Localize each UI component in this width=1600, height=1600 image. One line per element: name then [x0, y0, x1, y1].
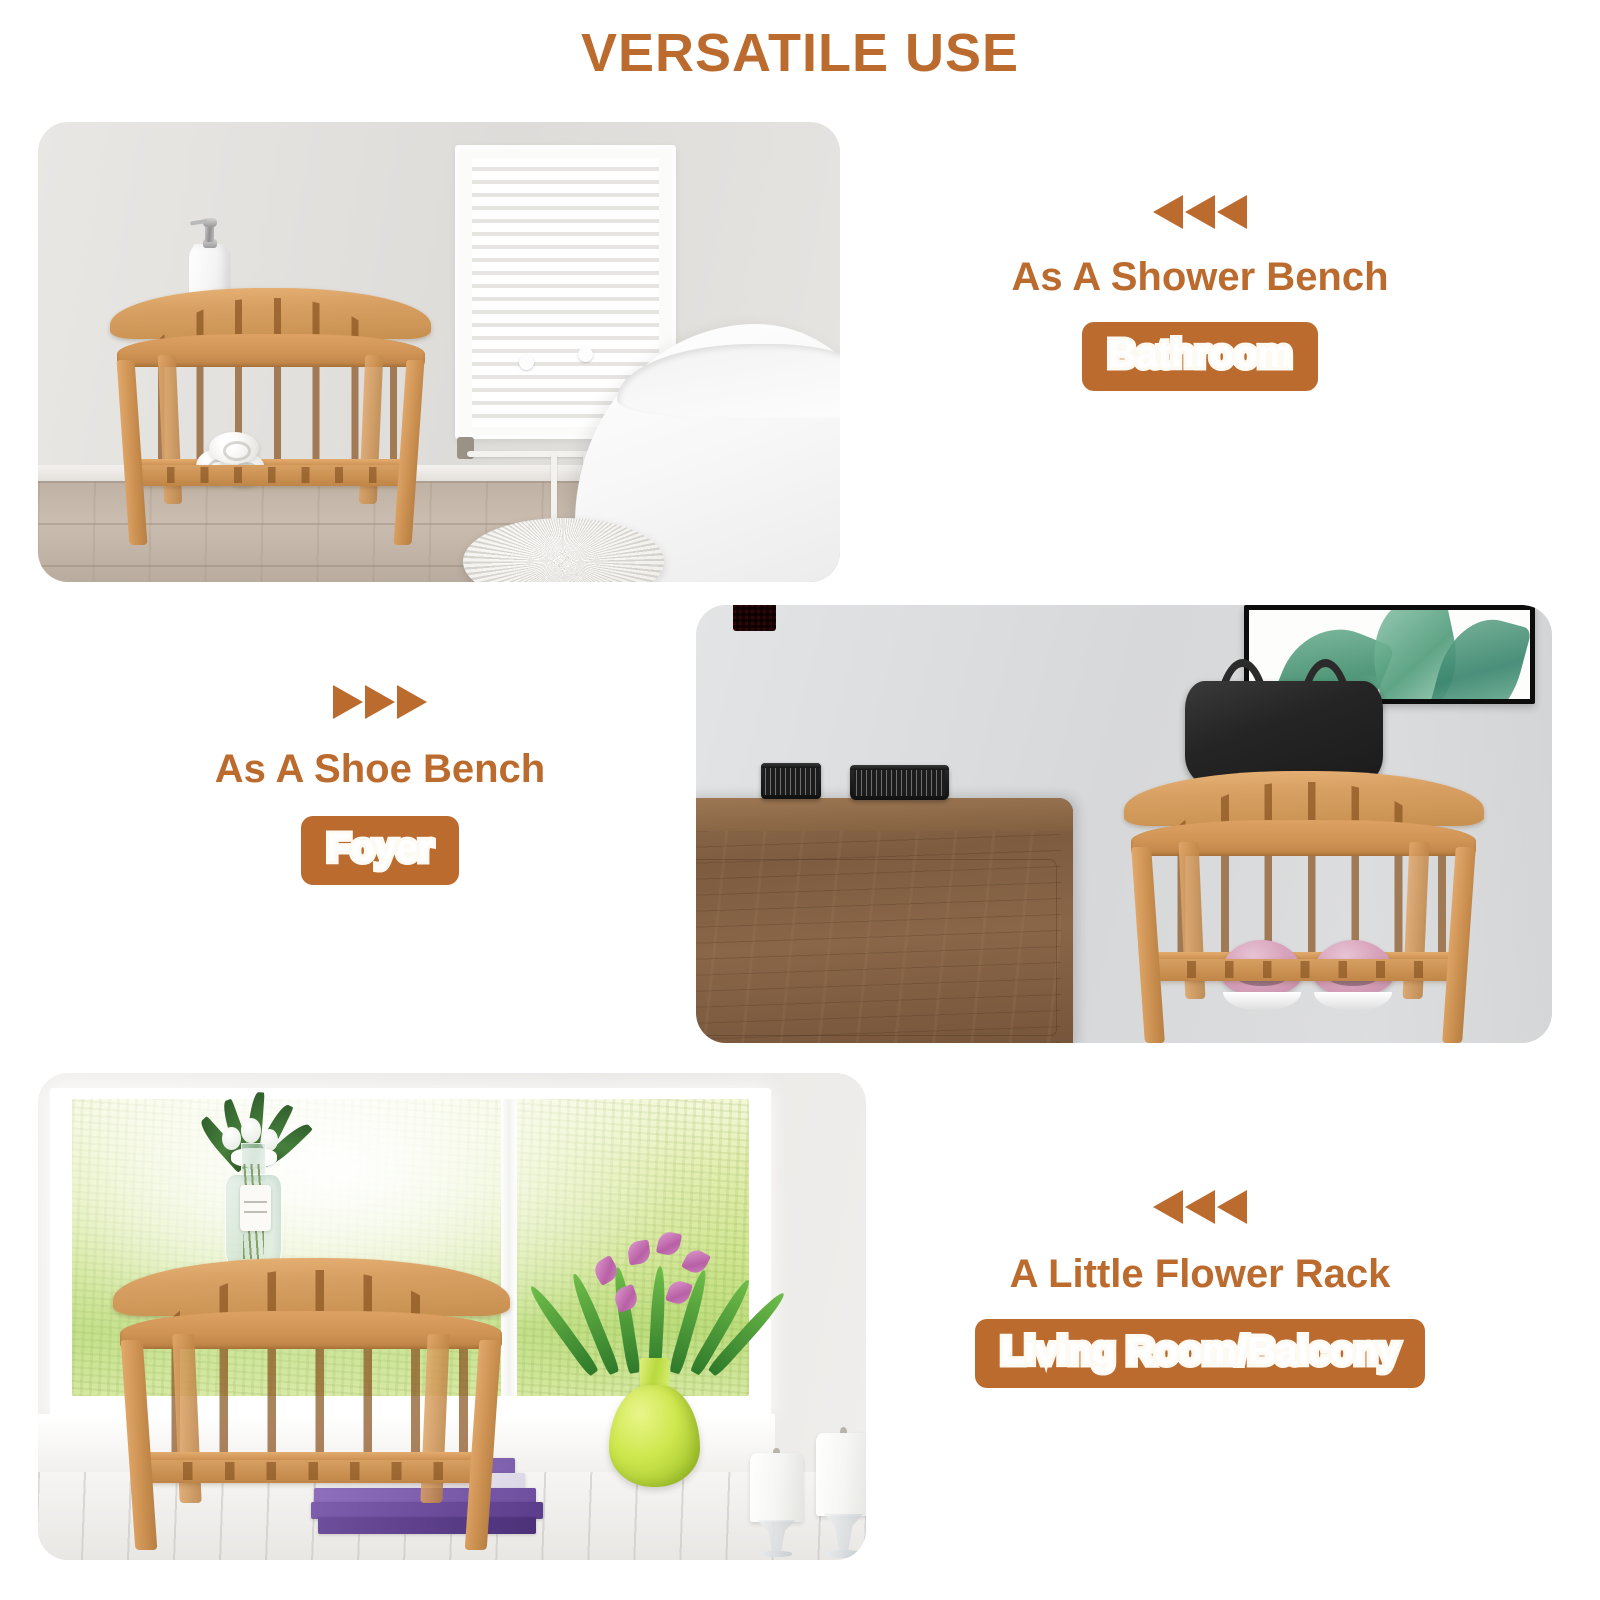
sideboard-top-surface [696, 798, 1073, 831]
leaf-blade [611, 1266, 641, 1374]
soap-dispenser-neck [205, 225, 214, 242]
pillar-candle-back [816, 1433, 866, 1555]
triangle-right-icon [365, 685, 395, 719]
bench-lower-shelf [140, 1460, 482, 1483]
caption-living-room: A Little Flower Rack Living Room/Balcony [930, 1190, 1470, 1388]
vase-hanging-tag [240, 1185, 271, 1231]
walnut-sideboard [696, 798, 1073, 1043]
pillar-candle-front [750, 1453, 803, 1555]
bamboo-bench-living-room [113, 1258, 510, 1550]
caption-title-living-room: A Little Flower Rack [930, 1252, 1470, 1297]
triangle-left-icon [1153, 1190, 1183, 1224]
candle-holder-foot-front [761, 1551, 793, 1557]
badge-foyer: Foyer [301, 816, 459, 885]
candle-glass-holder-front [757, 1520, 795, 1555]
arrow-group-bathroom [960, 195, 1440, 229]
caption-title-bathroom: As A Shower Bench [960, 255, 1440, 300]
candle-holder-foot-back [827, 1550, 860, 1557]
caption-bathroom: As A Shower Bench Bathroom [960, 195, 1440, 391]
woven-basket-large [850, 765, 948, 800]
candle-glass-holder-back [824, 1514, 863, 1555]
slipper-sole-left [1223, 992, 1301, 1010]
badge-living-room: Living Room/Balcony [975, 1319, 1426, 1388]
arrow-group-foyer [150, 685, 610, 719]
slipper-sole-right [1314, 992, 1392, 1010]
caption-title-foyer: As A Shoe Bench [150, 747, 610, 792]
clear-glass-vase [220, 1097, 288, 1272]
triangle-left-icon [1217, 1190, 1247, 1224]
rolled-towel [209, 432, 259, 464]
leather-tote-bag [1185, 630, 1383, 787]
green-glass-vase [609, 1341, 700, 1487]
photo-living-room-scene [38, 1073, 866, 1560]
tag-text-line [244, 1201, 266, 1203]
flower-bloom [656, 1230, 682, 1257]
bench-shelf-slats [141, 467, 400, 483]
flower-bloom [681, 1246, 711, 1277]
bench-lower-shelf [1149, 959, 1458, 981]
woven-basket-small [761, 763, 821, 799]
triangle-left-icon [1217, 195, 1247, 229]
photo-bathroom-scene [38, 122, 840, 582]
candle-wax-front [750, 1453, 803, 1523]
bench-lower-shelf [133, 465, 409, 486]
triangle-left-icon [1153, 195, 1183, 229]
flower-bloom [627, 1240, 652, 1266]
sideboard-door-panel [696, 859, 1057, 1037]
radiator-knob-left [519, 355, 534, 370]
tag-text-line [244, 1211, 266, 1213]
leaf-blade [648, 1265, 667, 1373]
bench-shelf-slats [151, 1462, 472, 1480]
triangle-left-icon [1185, 1190, 1215, 1224]
caption-foyer: As A Shoe Bench Foyer [150, 685, 610, 885]
badge-label-living-room: Living Room/Balcony [1001, 1330, 1400, 1373]
triangle-right-icon [397, 685, 427, 719]
arrow-group-living-room [930, 1190, 1470, 1224]
page-title: VERSATILE USE [0, 22, 1600, 84]
candle-wax-back [816, 1433, 866, 1516]
flower-petal [241, 1118, 261, 1143]
pink-flower-bouquet [571, 1220, 739, 1373]
flower-petal [222, 1127, 240, 1150]
triangle-right-icon [333, 685, 363, 719]
bamboo-bench-bathroom [110, 288, 431, 546]
triangle-left-icon [1185, 195, 1215, 229]
badge-bathroom: Bathroom [1082, 322, 1318, 391]
radiator-knob-right [578, 347, 593, 362]
photo-foyer-scene [696, 605, 1552, 1043]
badge-label-bathroom: Bathroom [1108, 333, 1292, 376]
bench-shelf-slats [1158, 961, 1449, 978]
green-vase-body [609, 1385, 700, 1487]
badge-label-foyer: Foyer [327, 827, 433, 870]
plaid-fabric-detail [733, 605, 776, 631]
bamboo-bench-foyer [1124, 771, 1484, 1043]
